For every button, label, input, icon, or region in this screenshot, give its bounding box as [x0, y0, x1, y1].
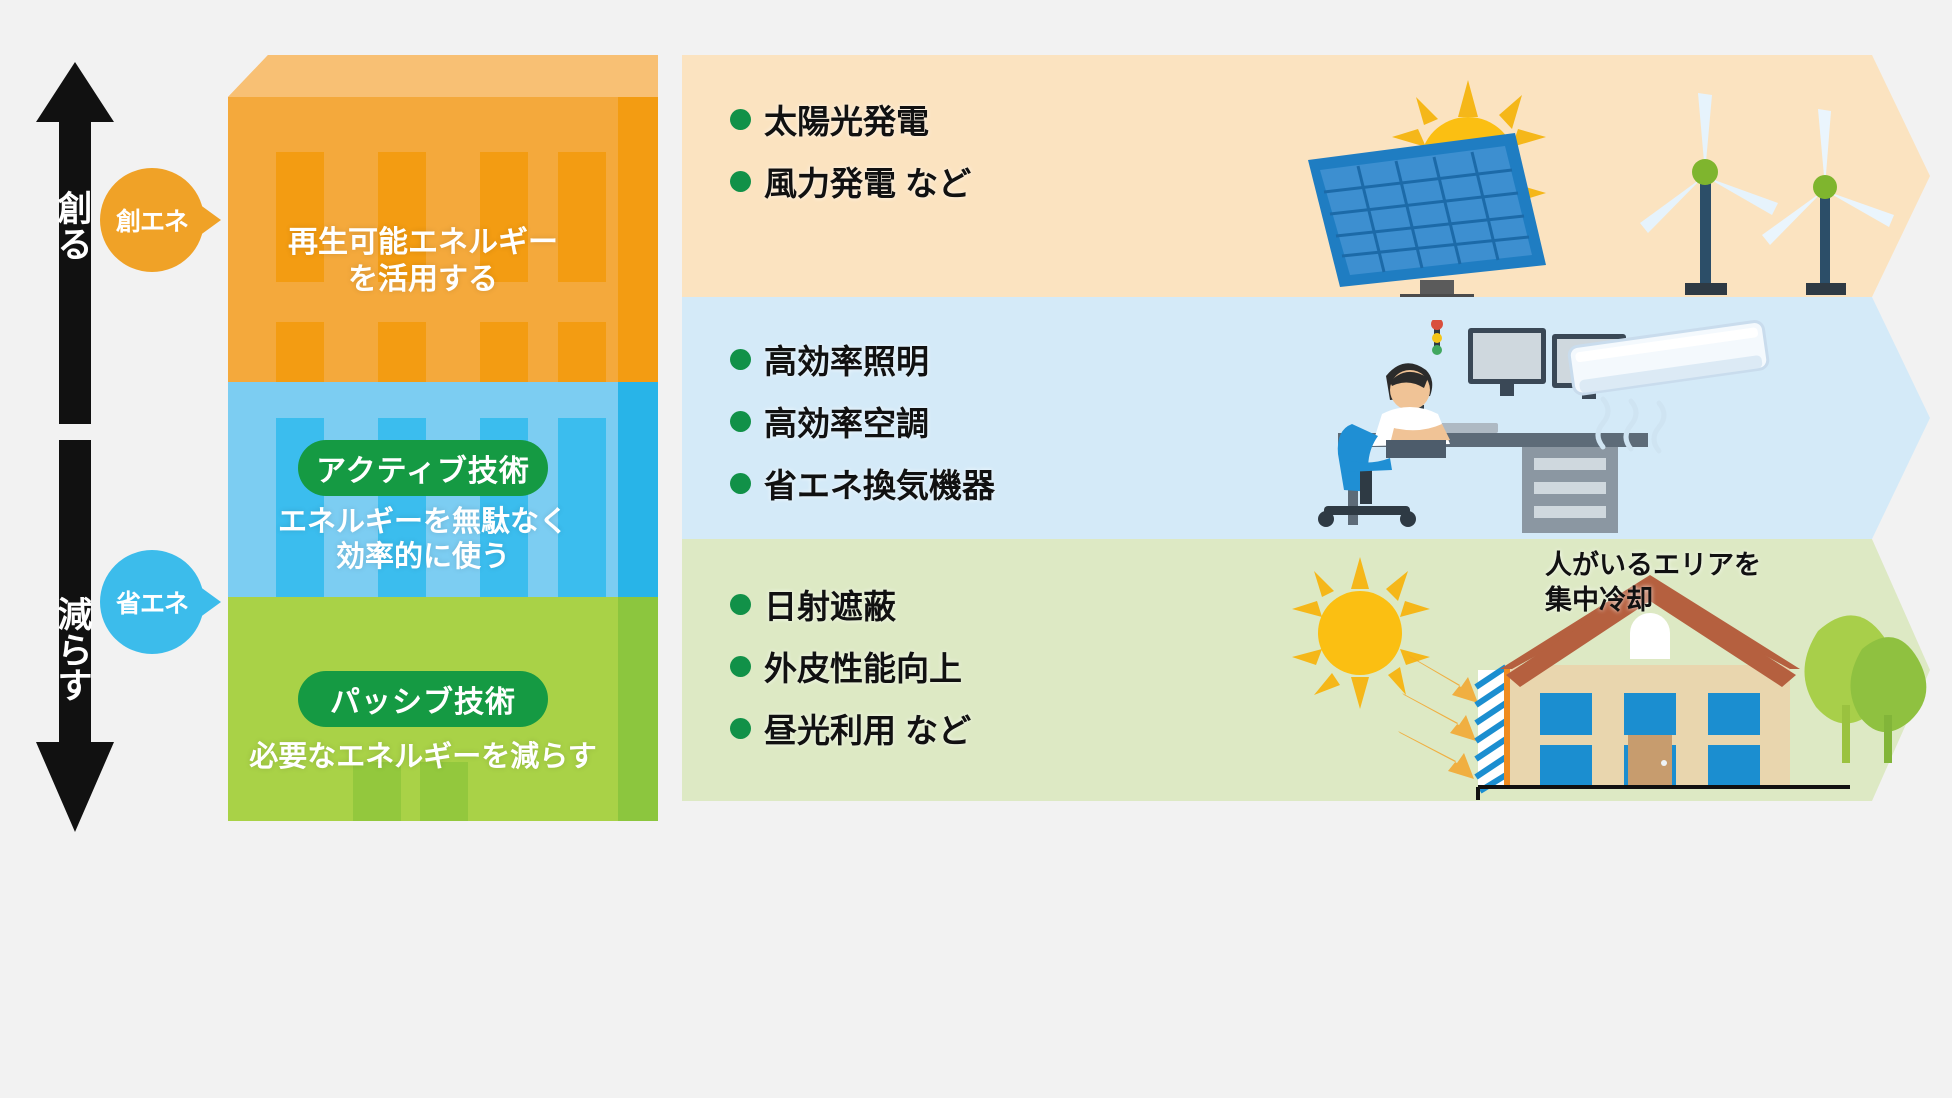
cooling-caption-line2: 集中冷却	[1545, 583, 1815, 618]
bullet-item: 高効率空調	[730, 397, 995, 445]
person-icon	[1372, 363, 1450, 458]
pill-passive-technology-label: パッシブ技術	[330, 677, 516, 721]
bullet-dot-icon	[730, 473, 751, 494]
wind-turbine-icon-2	[1762, 109, 1894, 295]
bullet-item: 風力発電 など	[730, 157, 971, 205]
block-passive-side	[618, 597, 658, 821]
tree-icon	[1804, 615, 1926, 763]
cooling-caption-line1: 人がいるエリアを	[1545, 548, 1815, 583]
bullet-item: 省エネ換気機器	[730, 459, 995, 507]
wind-turbine-icon	[1640, 93, 1778, 295]
block-active-label: エネルギーを無駄なく 効率的に使う	[228, 505, 618, 576]
bullet-dot-icon	[730, 594, 751, 615]
pill-active-technology[interactable]: アクティブ技術	[298, 440, 548, 496]
solar-array	[1308, 133, 1546, 305]
panel-renewable-bullets: 太陽光発電 風力発電 など	[730, 95, 971, 219]
bullet-label: 省エネ換気機器	[764, 459, 995, 507]
pill-passive-technology[interactable]: パッシブ技術	[298, 671, 548, 727]
block-passive-label-line1: 必要なエネルギーを減らす	[228, 740, 618, 775]
sun-rays-icon	[1398, 655, 1478, 779]
create-arrow: 創 る	[36, 62, 114, 424]
bullet-label: 高効率空調	[764, 397, 929, 445]
bullet-label: 外皮性能向上	[764, 642, 962, 690]
ground-line	[1478, 787, 1850, 800]
bullet-dot-icon	[730, 411, 751, 432]
bullet-dot-icon	[730, 171, 751, 192]
air-conditioner-icon	[1545, 315, 1805, 475]
bullet-item: 太陽光発電	[730, 95, 971, 143]
bullet-label: 日射遮蔽	[764, 580, 896, 628]
shading-louver	[1476, 667, 1510, 791]
bullet-label: 風力発電 など	[764, 157, 971, 205]
building-stack: 再生可能エネルギー を活用する アクティブ技術 エネルギーを無駄なく 効率的に使…	[228, 55, 658, 821]
bullet-label: 昼光利用 など	[764, 704, 971, 752]
bullet-dot-icon	[730, 109, 751, 130]
block-active-label-line2: 効率的に使う	[228, 540, 618, 575]
badge-save-energy-label: 省エネ	[116, 584, 188, 620]
block-renewable-label-line1: 再生可能エネルギー	[228, 225, 618, 262]
bullet-item: 高効率照明	[730, 335, 995, 383]
cooling-caption: 人がいるエリアを 集中冷却	[1545, 548, 1815, 618]
block-renewable-side	[618, 97, 658, 382]
panel-active-bullets: 高効率照明 高効率空調 省エネ換気機器	[730, 335, 995, 521]
bullet-dot-icon	[730, 656, 751, 677]
block-active-label-line1: エネルギーを無駄なく	[228, 505, 618, 540]
block-active-side	[618, 382, 658, 597]
pill-active-technology-label: アクティブ技術	[316, 446, 530, 490]
block-renewable-label-line2: を活用する	[228, 262, 618, 299]
bullet-item: 昼光利用 など	[730, 704, 971, 752]
block-renewable-label: 再生可能エネルギー を活用する	[228, 225, 618, 298]
solar-panel-icon	[1300, 75, 1920, 305]
badge-create-energy[interactable]: 創エネ	[100, 168, 204, 272]
badge-save-energy[interactable]: 省エネ	[100, 550, 204, 654]
bullet-dot-icon	[730, 349, 751, 370]
diagram-canvas: 創 る 減 ら す 創エネ 省エネ	[0, 0, 1952, 1098]
bullet-label: 高効率照明	[764, 335, 929, 383]
airflow-waves	[1598, 399, 1664, 451]
badge-create-energy-label: 創エネ	[116, 202, 188, 238]
bullet-label: 太陽光発電	[764, 95, 929, 143]
bullet-item: 日射遮蔽	[730, 580, 971, 628]
bullet-item: 外皮性能向上	[730, 642, 971, 690]
panel-passive-bullets: 日射遮蔽 外皮性能向上 昼光利用 など	[730, 580, 971, 766]
stack-top-bevel	[228, 55, 658, 99]
bullet-dot-icon	[730, 718, 751, 739]
block-passive-label: 必要なエネルギーを減らす	[228, 740, 618, 775]
sun-icon	[1292, 557, 1430, 709]
reduce-arrow: 減 ら す	[36, 440, 114, 832]
